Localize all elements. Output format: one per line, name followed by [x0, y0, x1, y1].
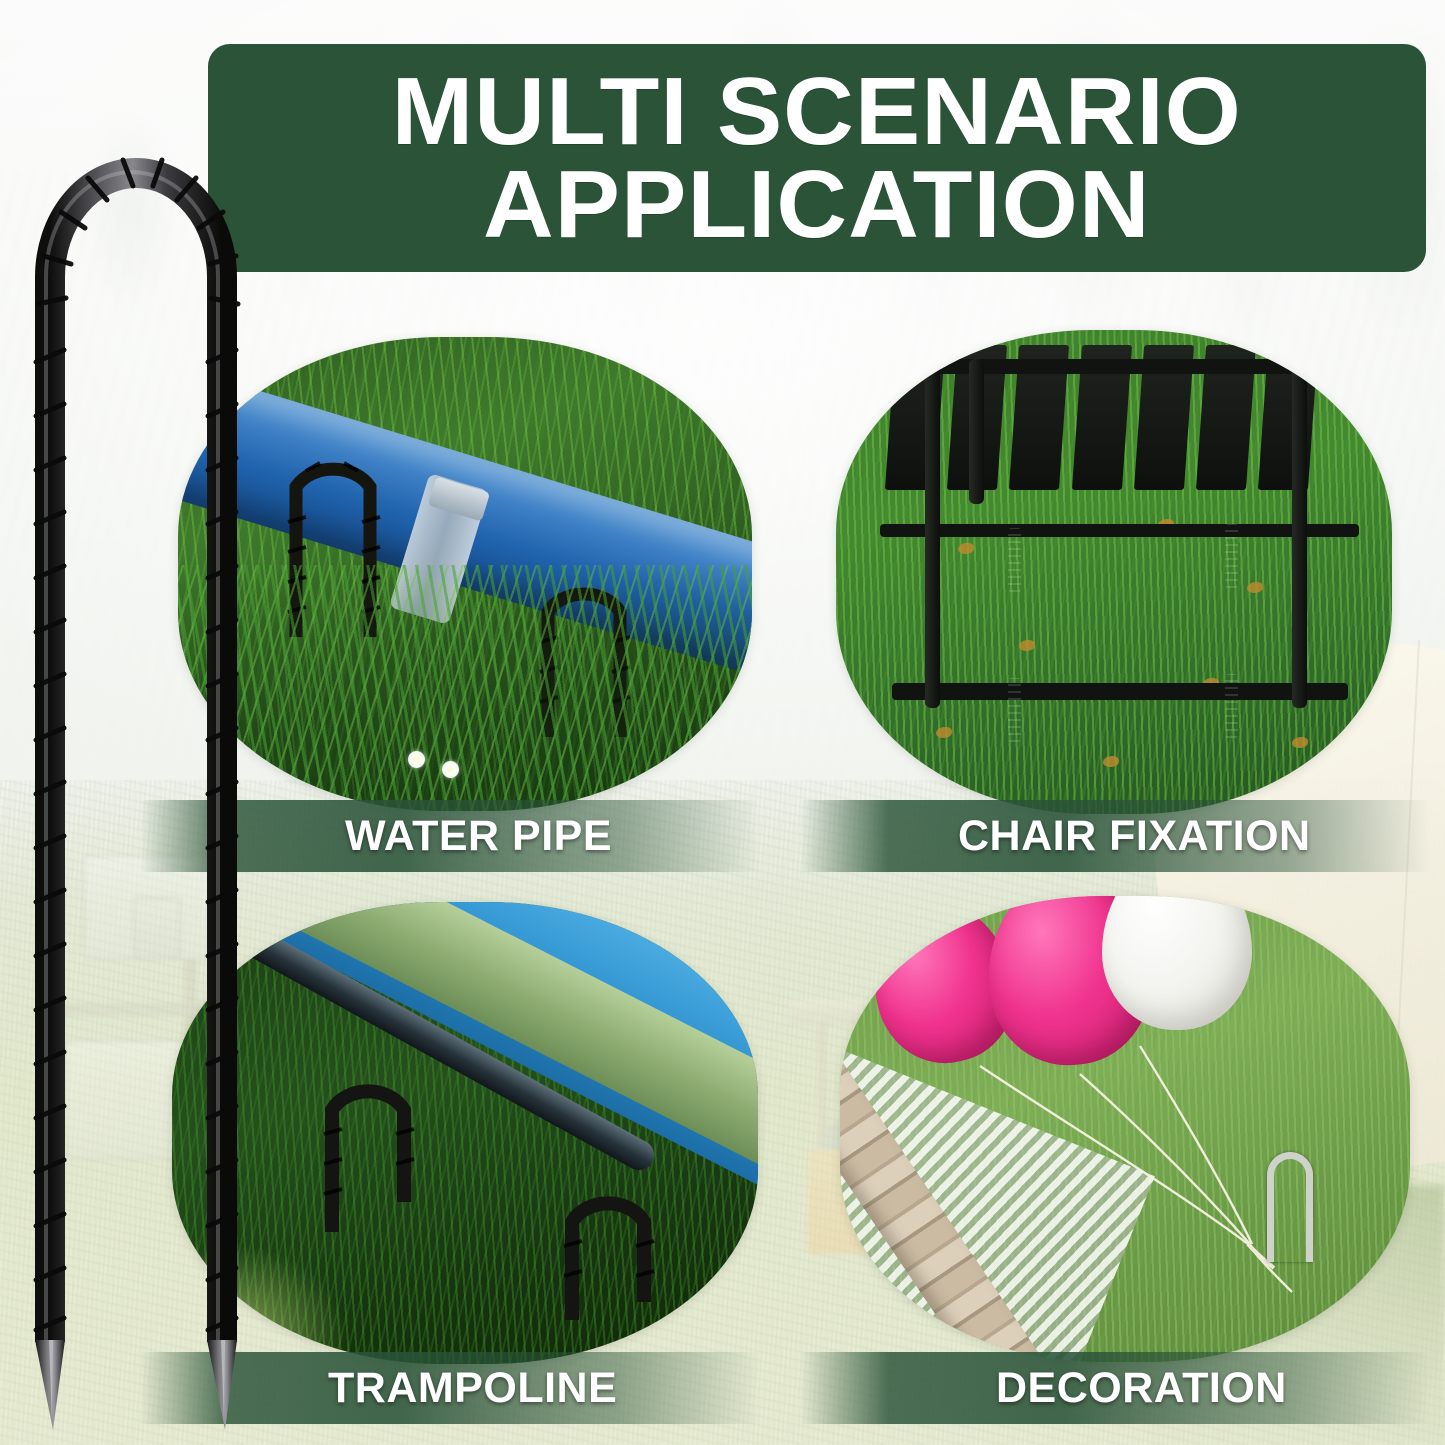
product-rebar-stake: [22, 72, 262, 1432]
page-title: MULTI SCENARIO APPLICATION: [392, 65, 1242, 251]
rebar-stake-icon: [22, 72, 262, 1432]
caption-label-trampoline: TRAMPOLINE: [328, 1364, 617, 1413]
caption-label-water-pipe: WATER PIPE: [345, 812, 612, 861]
panel-decoration: [840, 896, 1410, 1362]
photo-chair-fixation: [836, 330, 1392, 814]
panel-chair-fixation: [836, 330, 1392, 814]
photo-water-pipe: [178, 337, 752, 811]
caption-decoration: DECORATION: [800, 1352, 1430, 1424]
infographic-canvas: MULTI SCENARIO APPLICATION: [0, 0, 1445, 1445]
u-stake: [1267, 1152, 1313, 1262]
caption-label-decoration: DECORATION: [996, 1364, 1287, 1413]
photo-decoration: [840, 896, 1410, 1362]
panel-water-pipe: [178, 337, 752, 811]
page-title-line-1: MULTI SCENARIO: [392, 58, 1242, 165]
caption-label-chair-fixation: CHAIR FIXATION: [958, 812, 1311, 861]
header-banner: MULTI SCENARIO APPLICATION: [208, 44, 1426, 272]
caption-chair-fixation: CHAIR FIXATION: [800, 800, 1430, 872]
page-title-line-2: APPLICATION: [483, 151, 1151, 258]
